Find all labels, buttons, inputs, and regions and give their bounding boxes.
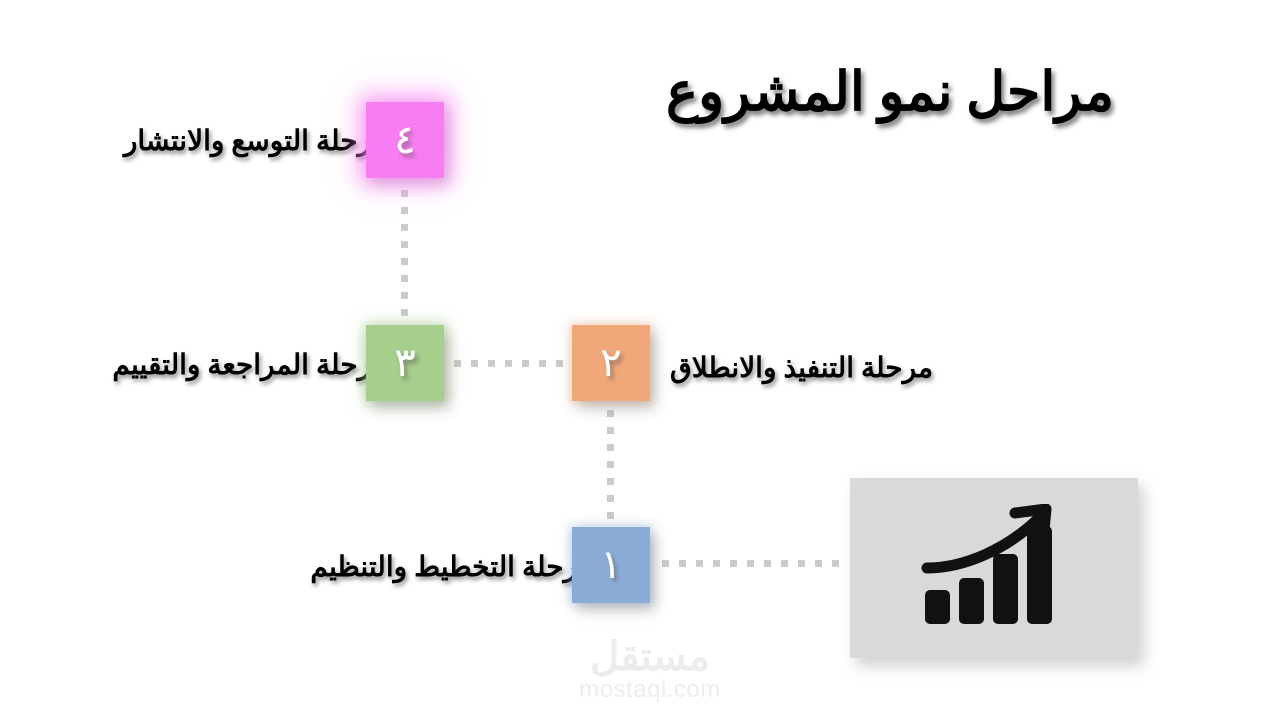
connector-stage3-stage2 (454, 360, 564, 367)
stage-label-2: مرحلة التنفيذ والانطلاق (670, 351, 933, 385)
stage-box-2[interactable]: ٢ (572, 325, 650, 401)
stage-number-1: ١ (600, 545, 621, 585)
watermark: مستقل mostaql.com (540, 636, 760, 704)
connector-stage4-stage3 (401, 190, 408, 316)
stage-box-3[interactable]: ٣ (366, 325, 444, 401)
connector-stage1-icon (662, 560, 840, 567)
stage-number-4: ٤ (394, 120, 415, 160)
watermark-latin: mostaql.com (540, 676, 760, 704)
page-title: مراحل نمو المشروع (640, 60, 1140, 123)
connector-stage2-stage1 (607, 410, 614, 520)
stage-number-3: ٣ (394, 343, 415, 383)
growth-icon-panel (850, 478, 1138, 658)
stage-box-1[interactable]: ١ (572, 527, 650, 603)
stage-label-4: مرحلة التوسع والانتشار (124, 124, 388, 158)
stage-box-4[interactable]: ٤ (366, 102, 444, 178)
stage-number-2: ٢ (600, 343, 621, 383)
growth-bar-chart-arrow-icon (919, 504, 1069, 632)
slide-canvas: مراحل نمو المشروع ٤ مرحلة التوسع والانتش… (0, 0, 1280, 720)
watermark-arabic: مستقل (540, 636, 760, 678)
stage-label-3: مرحلة المراجعة والتقييم (112, 348, 388, 382)
stage-label-1: مرحلة التخطيط والتنظيم (310, 550, 594, 584)
